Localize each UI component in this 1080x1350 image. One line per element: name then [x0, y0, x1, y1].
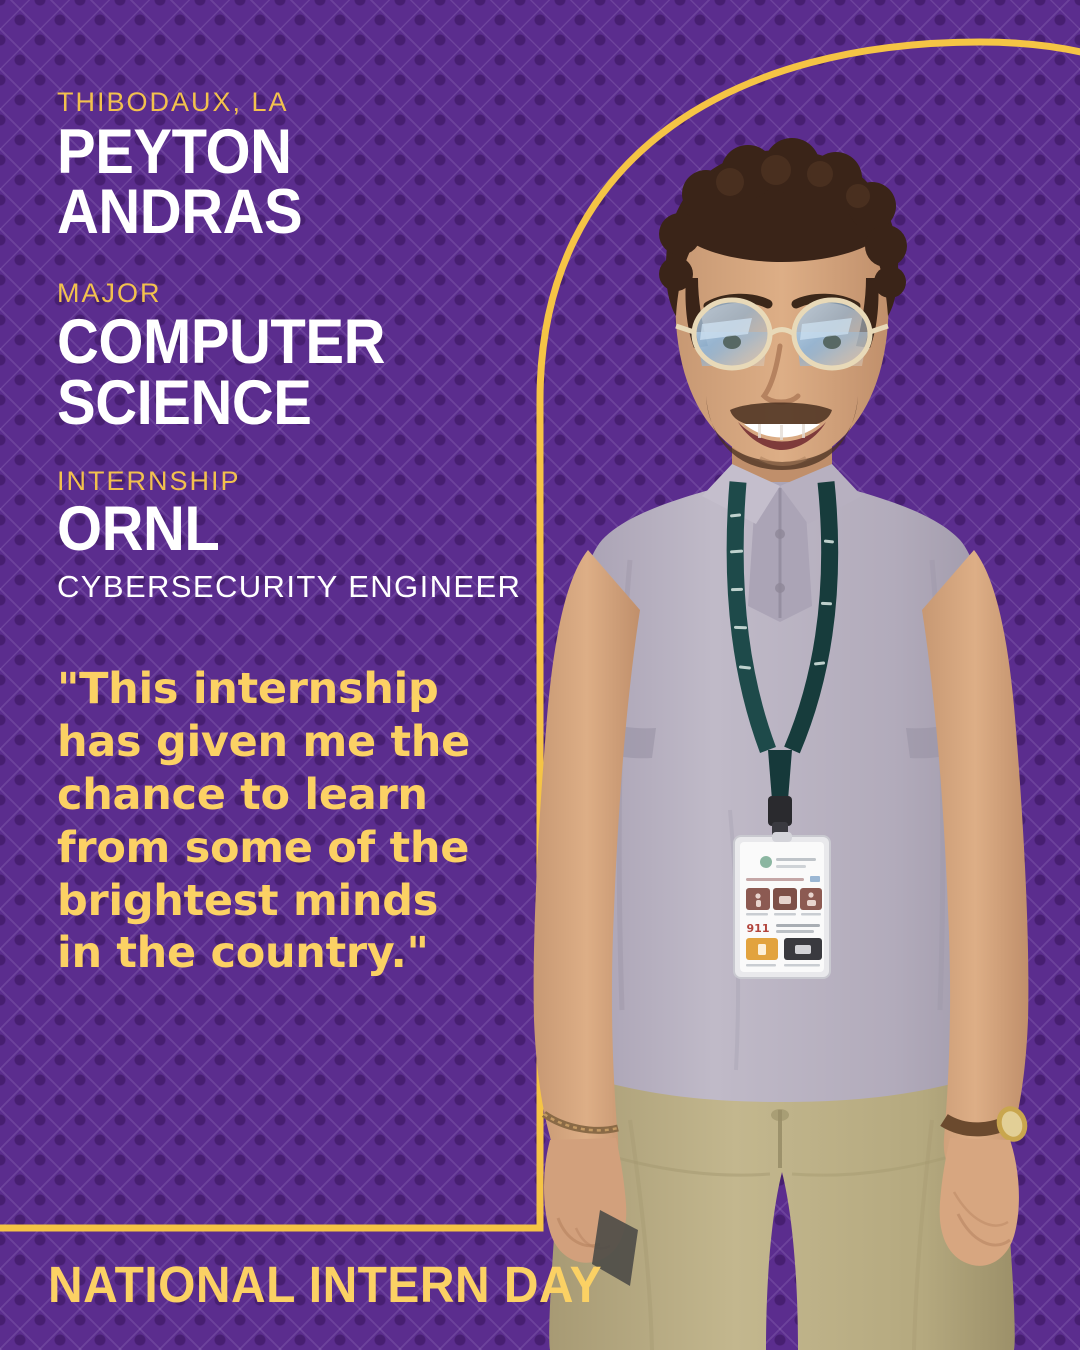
- internship-block: INTERNSHIP ORNL CYBERSECURITY ENGINEER: [57, 467, 527, 605]
- campaign-title: NATIONAL INTERN DAY: [48, 1255, 602, 1314]
- svg-text:911: 911: [747, 922, 770, 935]
- major-label: MAJOR: [57, 279, 527, 309]
- poster: 911: [0, 0, 1080, 1350]
- internship-organization: ORNL: [57, 499, 489, 559]
- major-block: MAJOR COMPUTER SCIENCE: [57, 279, 527, 434]
- intern-quote: "This internship has given me the chance…: [57, 663, 477, 980]
- internship-label: INTERNSHIP: [57, 467, 527, 497]
- intern-name: PEYTON ANDRAS: [57, 122, 489, 243]
- intern-details: THIBODAUX, LA PEYTON ANDRAS MAJOR COMPUT…: [57, 88, 527, 605]
- id-badge: 911: [734, 832, 830, 978]
- major-value: COMPUTER SCIENCE: [57, 312, 489, 433]
- hometown-label: THIBODAUX, LA: [57, 88, 527, 118]
- internship-role: CYBERSECURITY ENGINEER: [57, 569, 527, 605]
- hometown-block: THIBODAUX, LA PEYTON ANDRAS: [57, 88, 527, 243]
- intern-portrait-photo: 911: [480, 110, 1080, 1350]
